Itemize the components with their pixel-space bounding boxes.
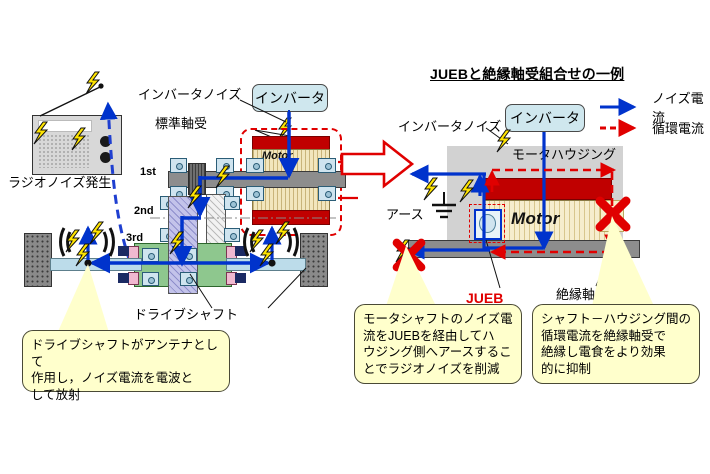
lightning-bolt-wheel-left-b <box>90 222 110 246</box>
lightning-bolt-wheel-right-c <box>260 244 280 268</box>
callout-pointer-insulated-bearing <box>588 214 698 310</box>
right-panel-title: JUEBと絶縁軸受組合せの一例 <box>430 64 624 84</box>
lightning-bolt-inverter-right <box>497 130 517 154</box>
callout-jueb-effect: モータシャフトのノイズ電 流をJUEBを経由してハ ウジング側へアースするこ と… <box>354 304 522 384</box>
legend-swatch-circulating-current <box>600 122 646 134</box>
lightning-bolt-wheel-right-b <box>276 222 296 246</box>
legend-row-noise-current: ノイズ電流 <box>600 96 710 117</box>
lightning-bolt-gear-2nd <box>188 186 208 210</box>
legend-label-circulating-current: 循環電流 <box>652 118 704 137</box>
lightning-bolt-gear-3rd <box>170 232 190 256</box>
callout-drive-shaft-antenna: ドライブシャフトがアンテナとして 作用し，ノイズ電流を電波と して放射 <box>22 330 230 392</box>
lightning-bolt-jueb <box>460 180 480 204</box>
legend-row-circulating-current: 循環電流 <box>600 117 710 138</box>
lightning-bolt-earth <box>424 178 444 202</box>
legend-swatch-noise-current <box>600 101 646 113</box>
legend: ノイズ電流 循環電流 <box>600 96 710 138</box>
callout-pointer-jueb <box>386 244 506 310</box>
callout-insulated-bearing-effect: シャフト－ハウジング間の 循環電流を絶縁軸受で 絶縁し電食をより効果 的に抑制 <box>532 304 700 384</box>
lightning-bolt-bearing-1st <box>216 166 236 190</box>
